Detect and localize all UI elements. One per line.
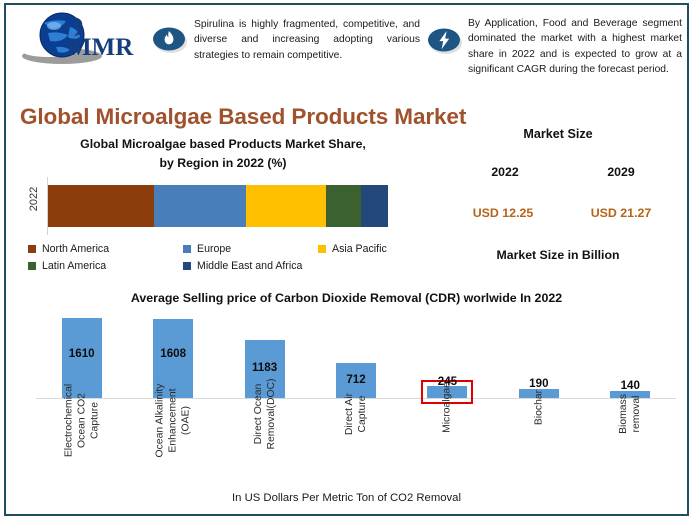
cdr-category-label: Ocean Alkalinity Enhancement (OAE) bbox=[130, 401, 216, 491]
market-size-unit: Market Size in Billion bbox=[430, 248, 686, 262]
region-share-segment bbox=[246, 185, 326, 227]
cdr-category-label: Direct Air Capture bbox=[313, 401, 399, 491]
cdr-category-label-text: Ocean Alkalinity Enhancement (OAE) bbox=[154, 378, 193, 464]
market-size-year-2029: 2029 bbox=[576, 165, 666, 179]
region-share-legend-item: Latin America bbox=[28, 260, 183, 272]
cdr-category-label-text: Biomass removal bbox=[617, 371, 643, 457]
legend-label: North America bbox=[42, 243, 109, 255]
legend-label: Europe bbox=[197, 243, 231, 255]
region-share-segment bbox=[326, 185, 361, 227]
legend-label: Latin America bbox=[42, 260, 106, 272]
region-share-segment bbox=[361, 185, 388, 227]
region-share-chart-title: Global Microalgae based Products Market … bbox=[28, 135, 418, 173]
cdr-price-chart: Average Selling price of Carbon Dioxide … bbox=[6, 291, 687, 517]
legend-swatch bbox=[28, 245, 36, 253]
mmr-globe-logo: MMR bbox=[18, 9, 148, 71]
region-share-legend-item: Asia Pacific bbox=[318, 243, 418, 255]
legend-swatch bbox=[318, 245, 326, 253]
legend-swatch bbox=[28, 262, 36, 270]
legend-label: Middle East and Africa bbox=[197, 260, 302, 272]
market-size-heading: Market Size bbox=[430, 127, 686, 141]
cdr-category-label: Direct Ocean Removal(DOC) bbox=[222, 401, 308, 491]
market-size-panel: Market Size 2022 2029 USD 12.25 USD 21.2… bbox=[430, 127, 686, 277]
region-share-plot: 2022 bbox=[26, 177, 396, 237]
legend-label: Asia Pacific bbox=[332, 243, 387, 255]
logo-wordmark: MMR bbox=[68, 34, 134, 61]
flame-icon bbox=[151, 25, 189, 55]
infographic-frame: MMR Spirulina is highly fragmented, comp… bbox=[4, 3, 689, 516]
market-size-value-2029: USD 21.27 bbox=[566, 206, 676, 220]
lightning-bolt-icon bbox=[426, 26, 464, 56]
region-share-legend-item: Middle East and Africa bbox=[183, 260, 318, 272]
header-blurb-left: Spirulina is highly fragmented, competit… bbox=[194, 17, 420, 63]
cdr-x-axis-title: In US Dollars Per Metric Ton of CO2 Remo… bbox=[6, 492, 687, 504]
cdr-category-label-text: Biochar bbox=[532, 365, 545, 451]
market-size-year-2022: 2022 bbox=[460, 165, 550, 179]
region-share-segment bbox=[154, 185, 246, 227]
region-share-legend-item: Europe bbox=[183, 243, 318, 255]
header: MMR Spirulina is highly fragmented, comp… bbox=[6, 5, 687, 93]
cdr-category-label-text: Electrochemical Ocean CO2 Capture bbox=[62, 378, 101, 464]
market-size-value-2022: USD 12.25 bbox=[448, 206, 558, 220]
region-share-segment bbox=[48, 185, 154, 227]
cdr-bar-value-label: 1608 bbox=[160, 347, 186, 360]
region-share-legend: North AmericaEuropeAsia PacificLatin Ame… bbox=[28, 243, 418, 272]
region-share-stacked-bar bbox=[48, 185, 388, 227]
cdr-category-label-text: Microalgae bbox=[441, 365, 454, 451]
region-share-title-line1: Global Microalgae based Products Market … bbox=[28, 135, 418, 154]
cdr-bar-value-label: 1610 bbox=[69, 347, 95, 360]
region-share-chart: Global Microalgae based Products Market … bbox=[6, 135, 426, 280]
header-blurb-right: By Application, Food and Beverage segmen… bbox=[468, 16, 682, 78]
cdr-category-label-text: Direct Ocean Removal(DOC) bbox=[252, 371, 278, 457]
region-share-legend-item: North America bbox=[28, 243, 183, 255]
legend-swatch bbox=[183, 262, 191, 270]
cdr-category-label: Biochar bbox=[496, 401, 582, 491]
cdr-x-axis-labels: Electrochemical Ocean CO2 CaptureOcean A… bbox=[36, 401, 676, 491]
page-title: Global Microalgae Based Products Market bbox=[20, 104, 490, 130]
cdr-chart-title: Average Selling price of Carbon Dioxide … bbox=[6, 291, 687, 305]
cdr-category-label: Biomass removal bbox=[587, 401, 673, 491]
cdr-category-label-text: Direct Air Capture bbox=[343, 371, 369, 457]
legend-swatch bbox=[183, 245, 191, 253]
cdr-category-label: Microalgae bbox=[404, 401, 490, 491]
cdr-category-label: Electrochemical Ocean CO2 Capture bbox=[39, 401, 125, 491]
region-share-category-label: 2022 bbox=[28, 187, 40, 211]
region-share-title-line2: by Region in 2022 (%) bbox=[28, 154, 418, 173]
